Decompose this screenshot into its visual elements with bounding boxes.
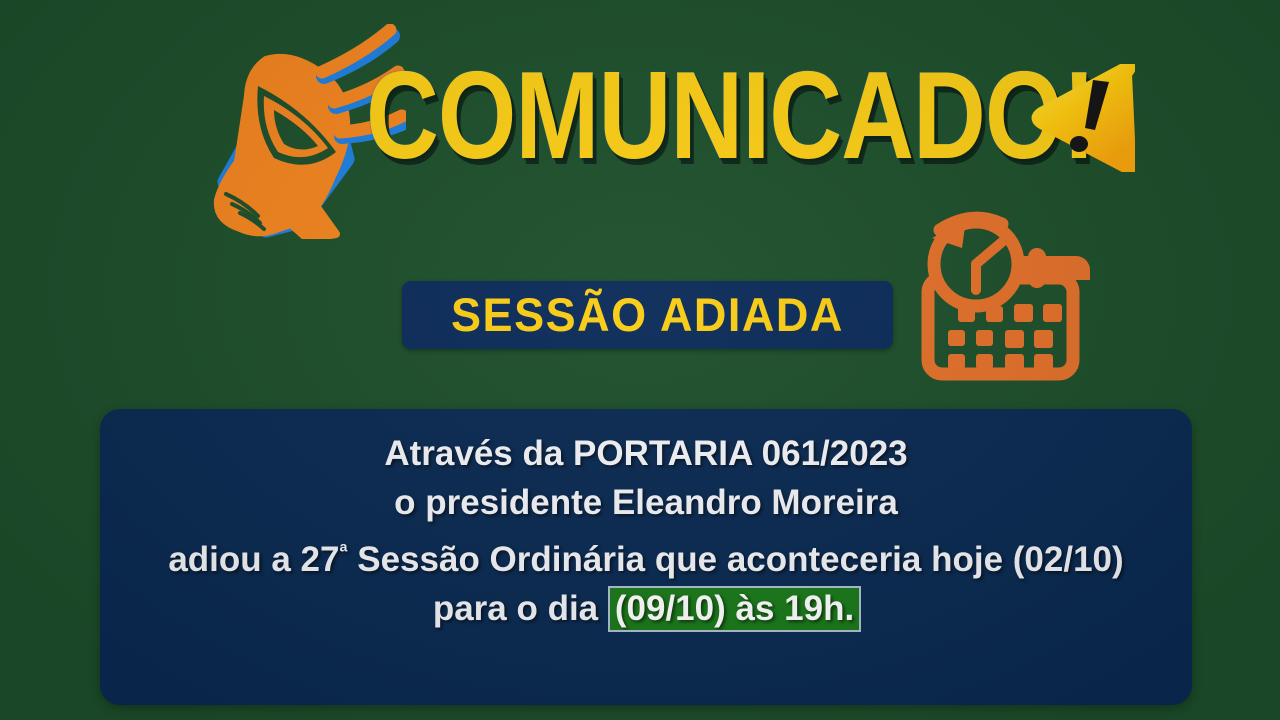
status-badge: SESSÃO ADIADA — [402, 281, 893, 349]
page-title-text: COMUNICADO! — [366, 54, 1095, 179]
notice-line-3-part-b: Sessão Ordinária que aconteceria hoje (0… — [348, 540, 1124, 579]
announcement-poster: COMUNICADO! SESSÃO ADIADA — [0, 0, 1280, 720]
ordinal-indicator: ª — [339, 539, 347, 564]
notice-line-1: Através da PORTARIA 061/2023 — [100, 429, 1192, 478]
highlighted-date-time: (09/10) às 19h. — [610, 588, 859, 630]
status-badge-label: SESSÃO ADIADA — [451, 287, 844, 342]
notice-line-2: o presidente Eleandro Moreira — [100, 478, 1192, 527]
notice-line-3: adiou a 27ª Sessão Ordinária que acontec… — [100, 527, 1192, 584]
notice-panel: Através da PORTARIA 061/2023 o president… — [100, 409, 1192, 705]
notice-line-4: para o dia (09/10) às 19h. — [100, 584, 1192, 633]
notice-line-4-prefix: para o dia — [433, 589, 608, 628]
page-title: COMUNICADO! — [366, 62, 1046, 170]
notice-line-3-part-a: adiou a 27 — [168, 540, 339, 579]
calendar-clock-icon — [906, 208, 1091, 383]
warning-triangle-icon — [1031, 64, 1135, 172]
